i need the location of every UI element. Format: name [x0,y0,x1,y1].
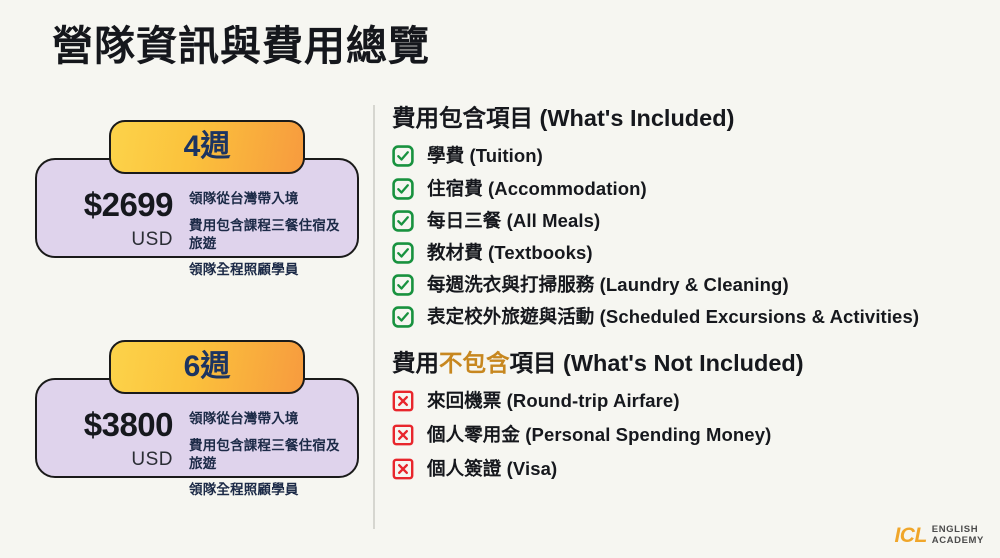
check-square-icon [392,178,414,200]
x-square-icon [392,424,414,446]
list-item: 每日三餐 (All Meals) [392,210,992,232]
page-title: 營隊資訊與費用總覽 [52,22,430,71]
pricing-column: $2699 USD 領隊從台灣帶入境 費用包含課程三餐住宿及旅遊 領隊全程照顧學… [0,100,372,540]
duration-badge-label: 6週 [184,352,231,382]
brand-logo-line-academy: ACADEMY [932,535,984,547]
brand-logo: ICL ENGLISH ACADEMY [894,524,984,547]
details-column: 費用包含項目 (What's Included) 學費 (Tuition) [392,104,992,480]
not-included-heading-part1: 費用 [392,350,439,376]
not-included-list: 來回機票 (Round-trip Airfare) 個人零用金 (Persona… [392,390,992,481]
not-included-heading-part2: 項目 (What's Not Included) [510,350,804,376]
check-square-icon [392,210,414,232]
check-square-icon [392,242,414,264]
list-item: 住宿費 (Accommodation) [392,178,992,200]
price-note: 領隊全程照顧學員 [189,261,343,279]
price-currency: USD [51,230,173,249]
price-currency: USD [51,450,173,469]
brand-logo-text: ENGLISH ACADEMY [932,524,984,547]
price-note: 費用包含課程三餐住宿及旅遊 [189,217,343,253]
list-item-label: 個人簽證 (Visa) [427,458,557,480]
included-section: 費用包含項目 (What's Included) 學費 (Tuition) [392,104,992,329]
brand-logo-mark: ICL [894,525,926,546]
list-item: 學費 (Tuition) [392,145,992,167]
duration-badge: 6週 [109,340,305,394]
duration-badge-label: 4週 [184,132,231,162]
duration-badge: 4週 [109,120,305,174]
price-amount: $2699 [51,188,173,221]
not-included-heading-highlight: 不包含 [439,350,510,376]
price-note: 領隊全程照顧學員 [189,481,343,499]
list-item: 表定校外旅遊與活動 (Scheduled Excursions & Activi… [392,306,992,328]
list-item-label: 表定校外旅遊與活動 (Scheduled Excursions & Activi… [427,306,919,328]
included-heading: 費用包含項目 (What's Included) [392,104,992,133]
price-amount: $3800 [51,408,173,441]
list-item: 每週洗衣與打掃服務 (Laundry & Cleaning) [392,274,992,296]
list-item: 教材費 (Textbooks) [392,242,992,264]
check-square-icon [392,274,414,296]
price-notes: 領隊從台灣帶入境 費用包含課程三餐住宿及旅遊 領隊全程照顧學員 [179,408,343,499]
price-block: $3800 USD [51,408,179,469]
check-square-icon [392,145,414,167]
price-notes: 領隊從台灣帶入境 費用包含課程三餐住宿及旅遊 領隊全程照顧學員 [179,188,343,279]
brand-logo-line-english: ENGLISH [932,524,984,536]
check-square-icon [392,306,414,328]
not-included-section: 費用不包含項目 (What's Not Included) 來回機票 (Roun… [392,349,992,481]
price-note: 領隊從台灣帶入境 [189,410,343,428]
list-item-label: 每週洗衣與打掃服務 (Laundry & Cleaning) [427,274,789,296]
x-square-icon [392,458,414,480]
list-item: 個人零用金 (Personal Spending Money) [392,424,992,446]
list-item-label: 教材費 (Textbooks) [427,242,593,264]
not-included-heading: 費用不包含項目 (What's Not Included) [392,349,992,378]
list-item-label: 來回機票 (Round-trip Airfare) [427,390,680,412]
x-square-icon [392,390,414,412]
column-divider [373,105,375,529]
price-block: $2699 USD [51,188,179,249]
list-item: 個人簽證 (Visa) [392,458,992,480]
price-note: 領隊從台灣帶入境 [189,190,343,208]
list-item-label: 學費 (Tuition) [427,145,543,167]
list-item-label: 每日三餐 (All Meals) [427,210,600,232]
list-item-label: 住宿費 (Accommodation) [427,178,647,200]
list-item: 來回機票 (Round-trip Airfare) [392,390,992,412]
list-item-label: 個人零用金 (Personal Spending Money) [427,424,771,446]
included-list: 學費 (Tuition) 住宿費 (Accommodation) [392,145,992,328]
price-note: 費用包含課程三餐住宿及旅遊 [189,437,343,473]
